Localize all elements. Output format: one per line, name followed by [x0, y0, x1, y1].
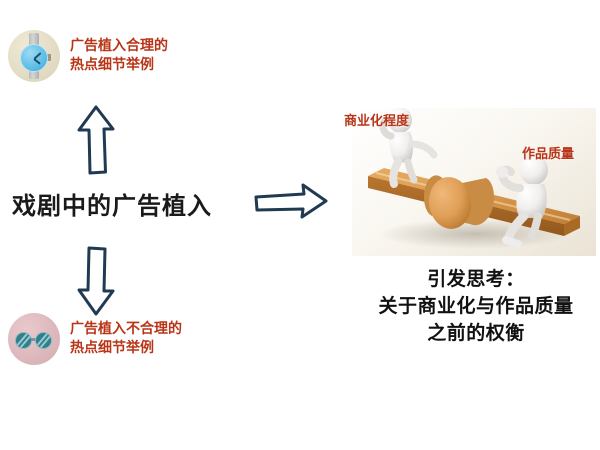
- conclusion-line-2: 关于商业化与作品质量: [352, 293, 600, 320]
- diagram-canvas: 广告植入合理的 热点细节举例 戏剧中的广告植入 广告植入不合理的 热点细节举例: [0, 0, 600, 450]
- page-title: 戏剧中的广告植入: [12, 186, 212, 221]
- sunglasses-lens-right: [35, 332, 52, 349]
- arrow-right-icon: [252, 181, 330, 227]
- callout-reasonable-line2: 热点细节举例: [70, 56, 168, 75]
- seesaw-illustration: 商业化程度 作品质量: [352, 108, 596, 256]
- figure-left-leg: [393, 162, 398, 184]
- figure-right-foot: [506, 240, 518, 244]
- callout-reasonable: 广告植入合理的 热点细节举例: [8, 30, 168, 82]
- watch-face: [20, 44, 48, 72]
- figure-left-arm-forward: [412, 144, 434, 155]
- arrow-down-icon: [72, 243, 120, 321]
- callout-unreasonable-line2: 热点细节举例: [70, 339, 182, 358]
- conclusion-line-3: 之前的权衡: [352, 320, 600, 347]
- watch-hand-minute: [34, 58, 41, 64]
- arrow-up-icon: [72, 104, 120, 182]
- callout-reasonable-text: 广告植入合理的 热点细节举例: [70, 37, 168, 75]
- wristwatch-icon: [8, 30, 60, 82]
- seesaw-label-quality: 作品质量: [522, 143, 574, 162]
- figure-right-fist: [496, 166, 508, 178]
- seesaw-svg: [352, 108, 596, 256]
- callout-unreasonable: 广告植入不合理的 热点细节举例: [8, 313, 182, 365]
- callout-unreasonable-line1: 广告植入不合理的: [70, 320, 182, 339]
- conclusion-text: 引发思考： 关于商业化与作品质量 之前的权衡: [352, 266, 600, 347]
- sunglasses-lens-left: [15, 332, 32, 349]
- conclusion-line-1: 引发思考：: [352, 266, 600, 293]
- callout-reasonable-line1: 广告植入合理的: [70, 37, 168, 56]
- callout-unreasonable-text: 广告植入不合理的 热点细节举例: [70, 320, 182, 358]
- sunglasses-icon: [8, 313, 60, 365]
- seesaw-label-commercialization: 商业化程度: [344, 110, 409, 129]
